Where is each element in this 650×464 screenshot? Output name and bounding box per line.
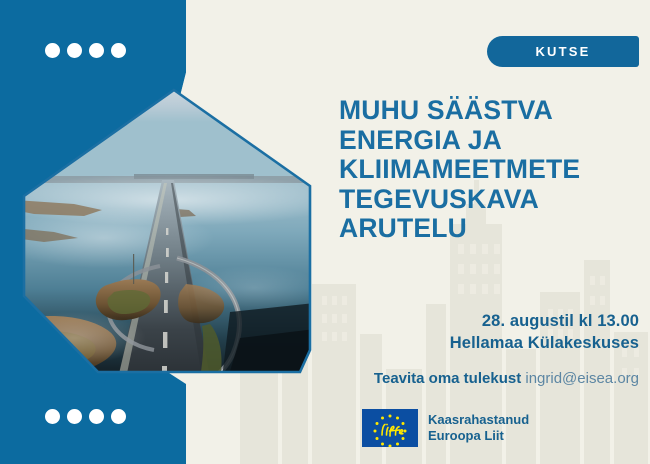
dot: [111, 43, 126, 58]
event-venue: Hellamaa Külakeskuses: [339, 332, 639, 354]
headline-line-5: ARUTELU: [339, 214, 639, 244]
kutse-badge: KUTSE: [487, 36, 639, 67]
headline-line-2: ENERGIA JA: [339, 126, 639, 156]
page-title: MUHU SÄÄSTVA ENERGIA JA KLIIMAMEETMETE T…: [339, 96, 639, 244]
decorative-dots-top: [45, 43, 126, 58]
eu-caption-line-1: Kaasrahastanud: [428, 412, 529, 428]
eu-funding-logo: Kaasrahastanud Euroopa Liit: [362, 409, 529, 447]
dot: [89, 43, 104, 58]
eu-flag-icon: [362, 409, 418, 447]
kutse-badge-label: KUTSE: [535, 44, 590, 59]
rsvp-prompt: Teavita oma tulekust: [374, 370, 521, 387]
dot: [89, 409, 104, 424]
dot: [67, 409, 82, 424]
eu-caption-line-2: Euroopa Liit: [428, 428, 529, 444]
rsvp-contact: Teavita oma tulekust ingrid@eisea.org: [339, 369, 639, 389]
rsvp-email[interactable]: ingrid@eisea.org: [525, 370, 639, 387]
dot: [67, 43, 82, 58]
dot: [45, 409, 60, 424]
headline-line-1: MUHU SÄÄSTVA: [339, 96, 639, 126]
headline-line-4: TEGEVUSKAVA: [339, 185, 639, 215]
event-details: 28. augustil kl 13.00 Hellamaa Külakesku…: [339, 310, 639, 354]
poster-canvas: KUTSE MUHU SÄÄSTVA ENERGIA JA KLIIMAMEET…: [0, 0, 650, 464]
decorative-dots-bottom: [45, 409, 126, 424]
dot: [111, 409, 126, 424]
headline-line-3: KLIIMAMEETMETE: [339, 155, 639, 185]
eu-funding-caption: Kaasrahastanud Euroopa Liit: [428, 412, 529, 444]
dot: [45, 43, 60, 58]
event-datetime: 28. augustil kl 13.00: [339, 310, 639, 332]
hero-photo: [14, 88, 324, 378]
